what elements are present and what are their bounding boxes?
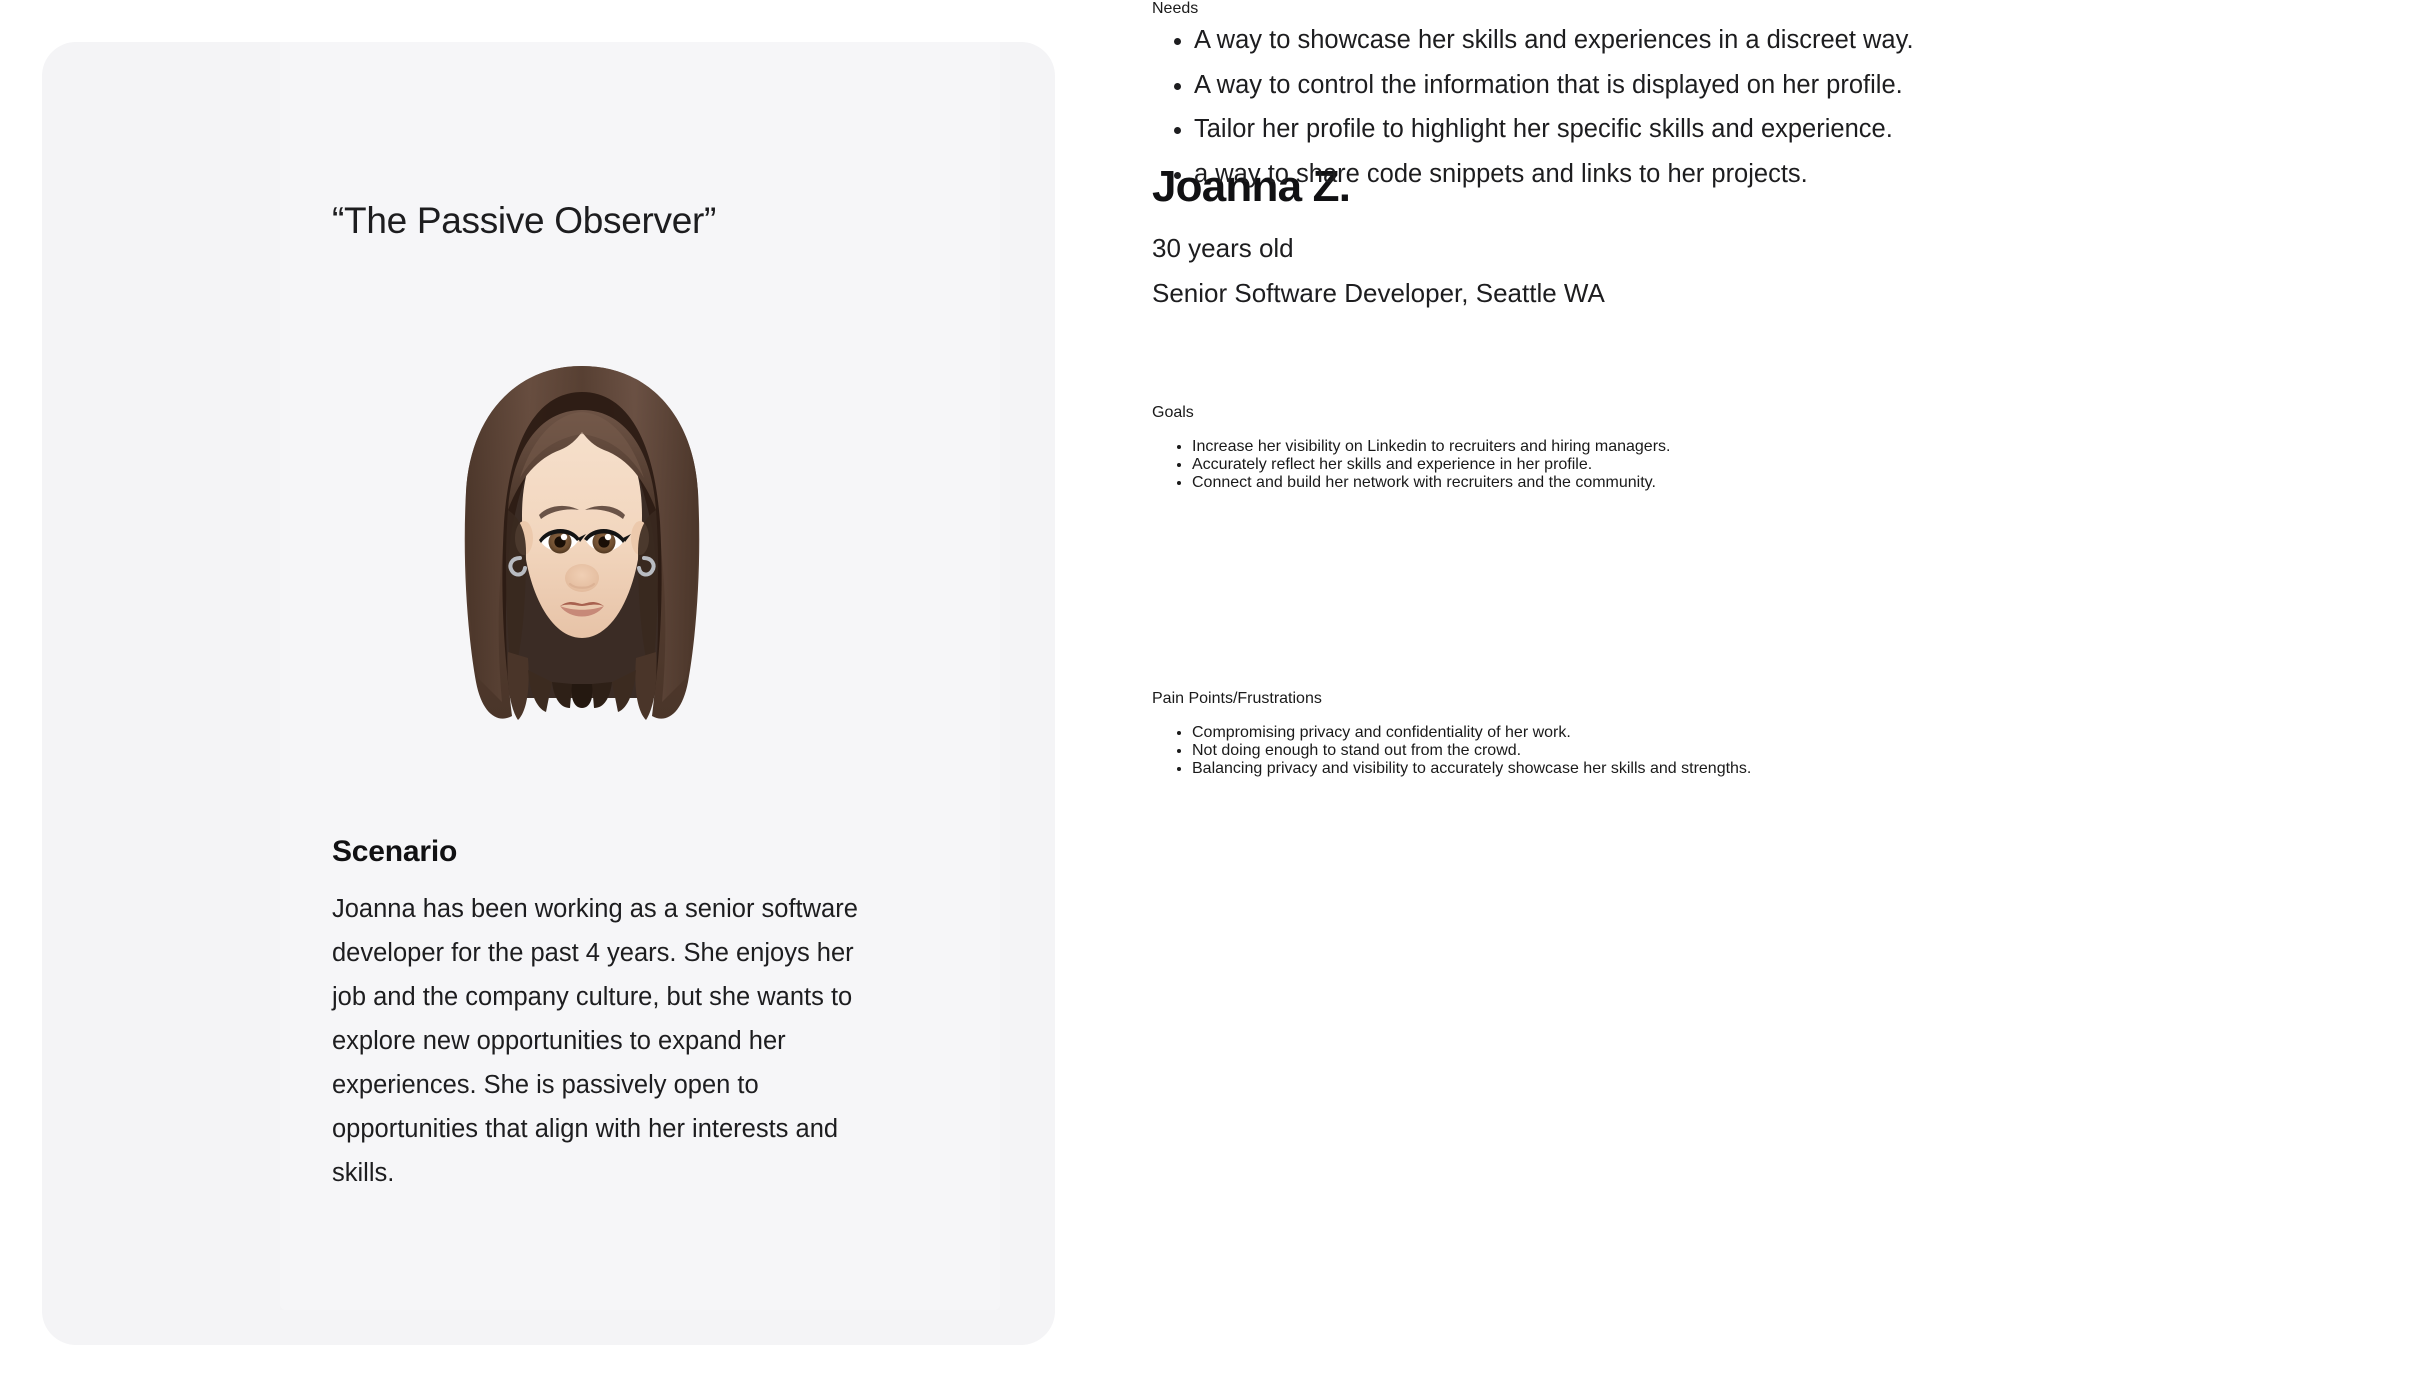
list-item-label: A way to control the information that is… [1194,71,1903,99]
list-item-label: a way to share code snippets and links t… [1194,160,1808,188]
pain-points-list: Compromising privacy and confidentiality… [1152,724,2332,778]
section-heading: Goals [1152,404,2332,422]
section-heading: Needs [1152,0,2332,18]
persona-card-title: “The Passive Observer” [332,200,716,242]
bullet-dot-icon [1174,172,1181,179]
list-item-label: Increase her visibility on Linkedin to r… [1192,438,1670,455]
list-item: Tailor her profile to highlight her spec… [1152,107,2332,152]
bullet-dot-icon [1174,127,1181,134]
section-goals: Goals Increase her visibility on Linkedi… [1152,404,2332,508]
goals-list: Increase her visibility on Linkedin to r… [1152,438,2332,492]
scenario-body: Joanna has been working as a senior soft… [332,887,862,1195]
list-item: Balancing privacy and visibility to accu… [1192,760,2332,778]
section-needs: Needs A way to showcase her skills and e… [1152,0,2332,196]
list-item: Increase her visibility on Linkedin to r… [1192,438,2332,456]
needs-list: A way to showcase her skills and experie… [1152,18,2332,196]
list-item: Compromising privacy and confidentiality… [1192,724,2332,742]
bullet-dot-icon [1174,83,1181,90]
list-item-label: Tailor her profile to highlight her spec… [1194,115,1893,143]
list-item-label: A way to showcase her skills and experie… [1194,26,1914,54]
section-heading: Pain Points/Frustrations [1152,690,2332,708]
list-item: Accurately reflect her skills and experi… [1192,456,2332,474]
list-item-label: Accurately reflect her skills and experi… [1192,456,1592,473]
list-item: A way to showcase her skills and experie… [1152,18,2332,63]
person-role: Senior Software Developer, Seattle WA [1152,278,1605,309]
list-item: Not doing enough to stand out from the c… [1192,742,2332,760]
scenario-heading: Scenario [332,835,457,869]
section-pain-points: Pain Points/Frustrations Compromising pr… [1152,690,2332,794]
list-item-label: Not doing enough to stand out from the c… [1192,742,1521,759]
list-item-label: Compromising privacy and confidentiality… [1192,724,1571,741]
person-age: 30 years old [1152,233,1294,264]
persona-card: “The Passive Observer” [42,42,1055,1345]
list-item: Connect and build her network with recru… [1192,474,2332,492]
list-item-label: Connect and build her network with recru… [1192,474,1656,491]
list-item-label: Balancing privacy and visibility to accu… [1192,760,1751,777]
memoji-avatar-woman-icon [442,352,722,752]
bullet-dot-icon [1174,38,1181,45]
list-item: a way to share code snippets and links t… [1152,152,2332,197]
list-item: A way to control the information that is… [1152,63,2332,108]
